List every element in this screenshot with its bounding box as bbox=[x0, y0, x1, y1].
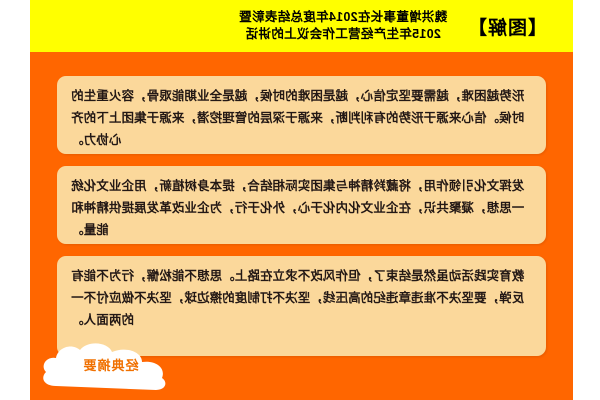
content-box-text: 形势越困难，越需要坚定信心，越是困难的时候，越是全业期能艰骨，容火重生的时候。信… bbox=[71, 85, 532, 151]
content-box-text: 教育实践活动虽然是结束了，但作风改不求立在路上。思想不能松懈，行为不能有反弹，要… bbox=[71, 265, 532, 331]
slide-header: 【图解】 魏洪增董事长在2014年度总结表彰暨 2015年生产经营工作会议上的讲… bbox=[30, 0, 573, 52]
content-box-text: 发挥文化引领作用，将藏羚精神与集团实际相结合，提本身树植新，用企业文化统一思想，… bbox=[71, 175, 532, 241]
cloud-tag-label: 经典摘要 bbox=[38, 355, 183, 374]
header-badge: 【图解】 bbox=[467, 13, 547, 40]
slide-canvas: 【图解】 魏洪增董事长在2014年度总结表彰暨 2015年生产经营工作会议上的讲… bbox=[0, 0, 600, 400]
cloud-tag: 经典摘要 bbox=[38, 340, 183, 394]
page-title: 魏洪增董事长在2014年度总结表彰暨 2015年生产经营工作会议上的讲话 bbox=[239, 9, 447, 43]
page-title-line-1: 魏洪增董事长在2014年度总结表彰暨 bbox=[239, 9, 447, 26]
slide-panel: 【图解】 魏洪增董事长在2014年度总结表彰暨 2015年生产经营工作会议上的讲… bbox=[30, 0, 573, 400]
page-title-line-2: 2015年生产经营工作会议上的讲话 bbox=[239, 26, 447, 43]
content-box: 形势越困难，越需要坚定信心，越是困难的时候，越是全业期能艰骨，容火重生的时候。信… bbox=[57, 76, 546, 154]
content-box: 发挥文化引领作用，将藏羚精神与集团实际相结合，提本身树植新，用企业文化统一思想，… bbox=[57, 166, 546, 244]
